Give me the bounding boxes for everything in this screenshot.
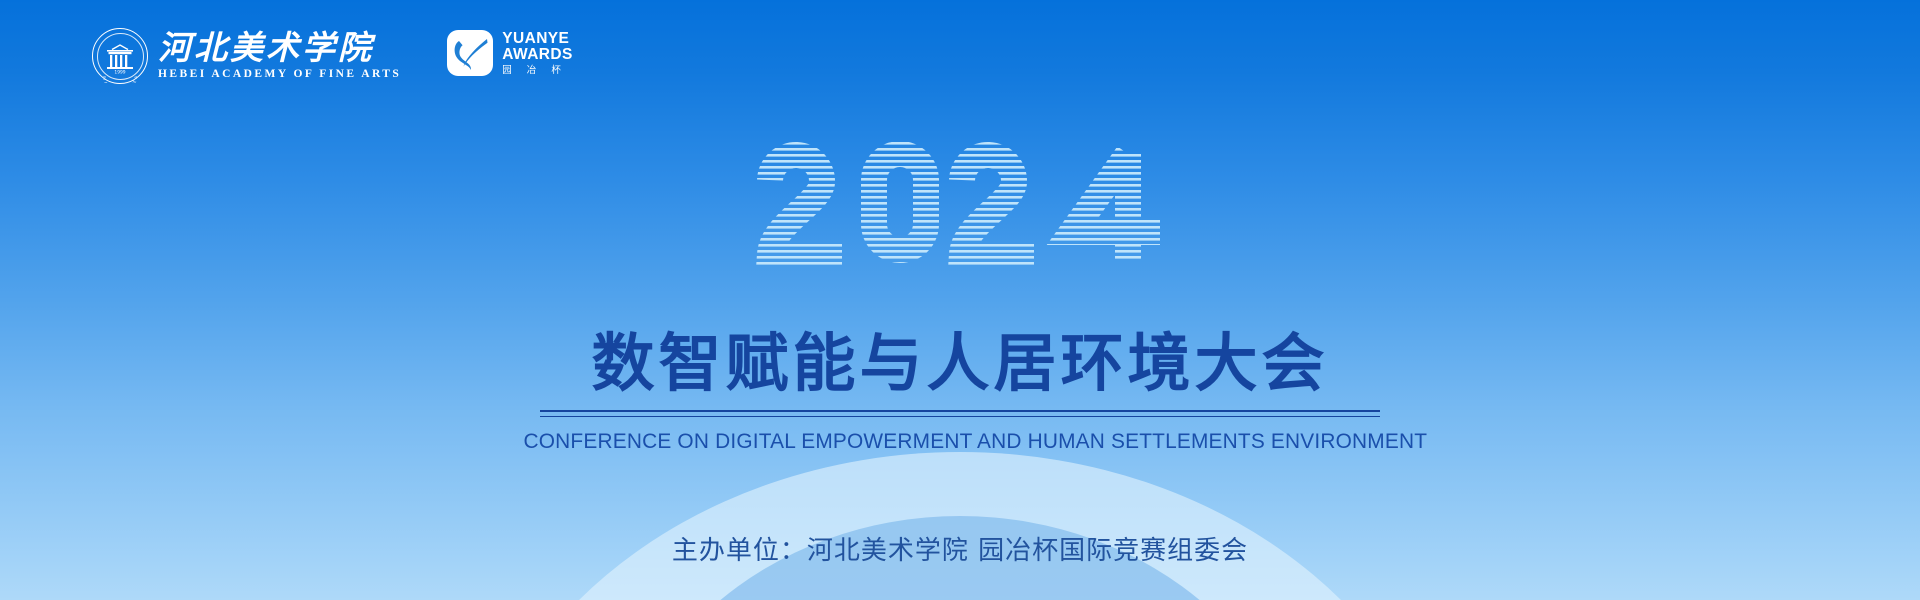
logo-row: 1999 河北美术学院 HEBEI ACADEMY OF FINE ARTS 河… (92, 28, 573, 84)
yuanye-line1: YUANYE (502, 31, 572, 47)
hebei-en-name: HEBEI ACADEMY OF FINE ARTS (158, 68, 401, 80)
yuanye-line2: AWARDS (502, 47, 572, 63)
hebei-academy-logo[interactable]: 1999 河北美术学院 HEBEI ACADEMY OF FINE ARTS 河… (92, 28, 401, 84)
yuanye-cn-name: 园 冶 杯 (502, 66, 572, 76)
hebei-logo-text: 河北美术学院 HEBEI ACADEMY OF FINE ARTS (158, 32, 401, 80)
decorative-arc-outer (460, 452, 1460, 600)
gate-emblem-icon: 1999 河北美术学院 HEBEI ACADEMY OF FINE ARTS (92, 28, 148, 84)
page-title-cn: 数智赋能与人居环境大会 (510, 330, 1410, 398)
hebei-cn-name: 河北美术学院 (158, 32, 401, 67)
title-divider-line-1 (540, 410, 1380, 412)
yuanye-swan-mark-icon (447, 30, 493, 76)
organizer-line: 主办单位：河北美术学院 园冶杯国际竞赛组委会 (672, 530, 1248, 567)
yuanye-awards-logo[interactable]: YUANYE AWARDS 园 冶 杯 (447, 30, 572, 76)
page-title-en: CONFERENCE ON DIGITAL EMPOWERMENT AND HU… (524, 429, 1397, 454)
headline-block: 数智赋能与人居环境大会 CONFERENCE ON DIGITAL EMPOWE… (510, 330, 1410, 454)
conference-banner: 1999 河北美术学院 HEBEI ACADEMY OF FINE ARTS 河… (0, 0, 1920, 600)
svg-text:1999: 1999 (114, 70, 125, 76)
year-2024-graphic (750, 136, 1170, 266)
yuanye-logo-text: YUANYE AWARDS 园 冶 杯 (502, 31, 572, 76)
title-divider-line-2 (540, 416, 1380, 418)
